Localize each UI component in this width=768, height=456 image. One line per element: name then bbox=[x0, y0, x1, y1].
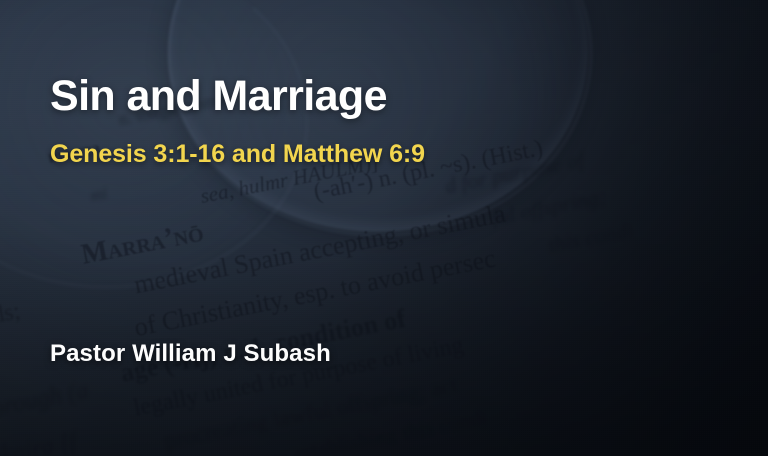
sermon-title-slide: ply ma ast for margila ured threads; ast… bbox=[0, 0, 768, 456]
slide-content: Sin and Marriage Genesis 3:1-16 and Matt… bbox=[0, 0, 768, 456]
slide-title: Sin and Marriage bbox=[50, 72, 387, 121]
presenter-name: Pastor William J Subash bbox=[50, 340, 331, 368]
scripture-reference: Genesis 3:1-16 and Matthew 6:9 bbox=[50, 140, 425, 169]
